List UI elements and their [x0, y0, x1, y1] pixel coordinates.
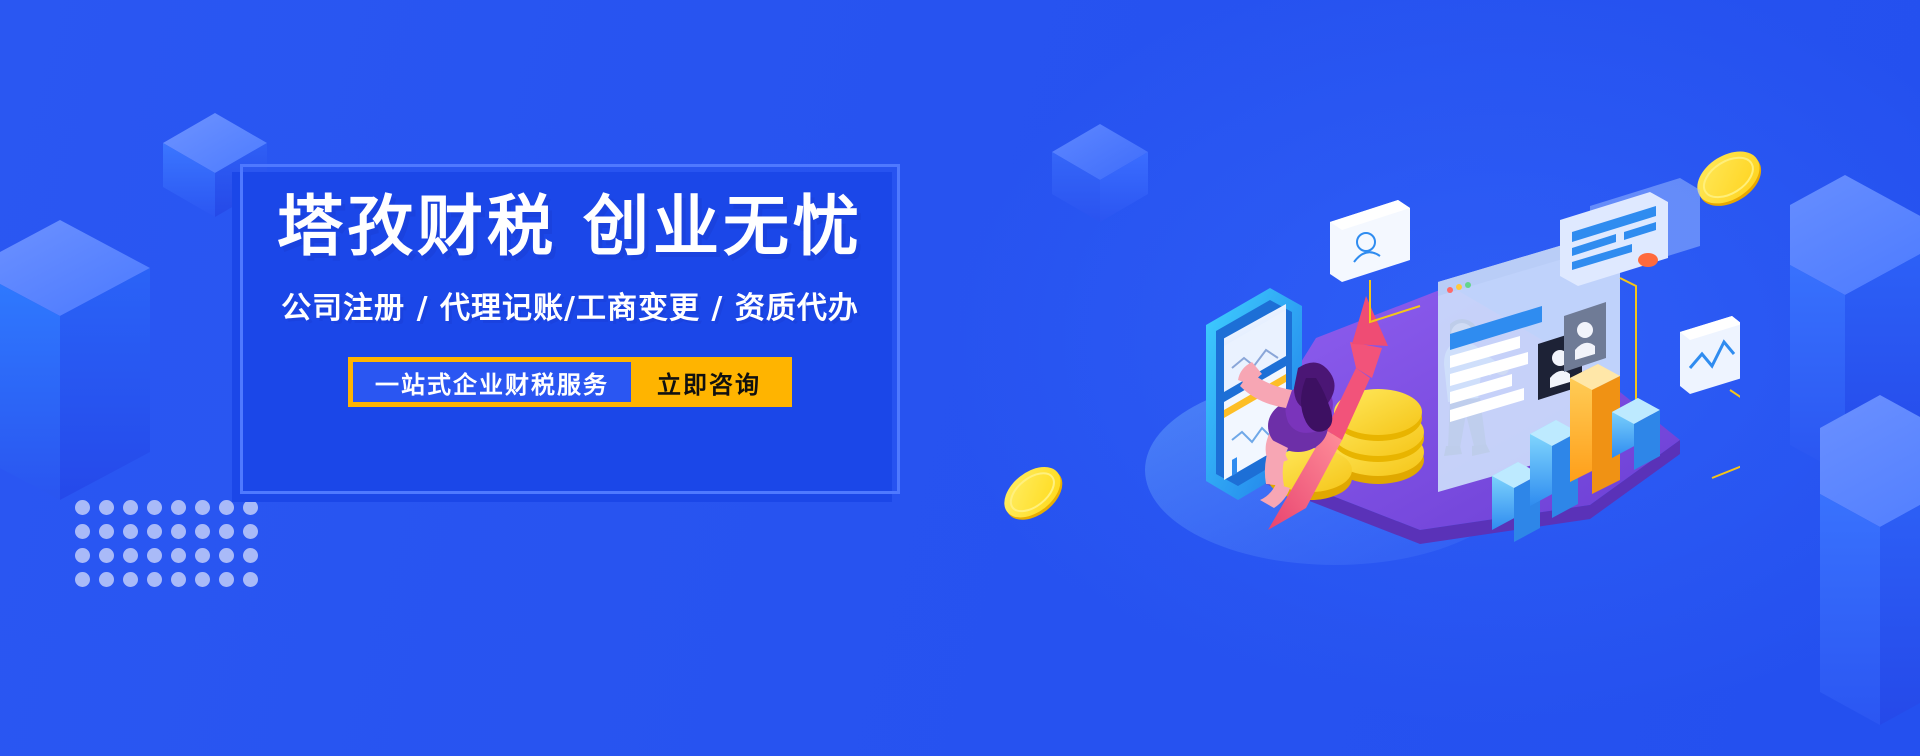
dot: [219, 572, 234, 587]
dot: [147, 572, 162, 587]
dot: [219, 524, 234, 539]
dot: [171, 572, 186, 587]
dot: [123, 548, 138, 563]
banner-subtitle: 公司注册 / 代理记账/工商变更 / 资质代办: [281, 283, 859, 327]
page-title: 塔孜财税创业无忧: [277, 192, 863, 261]
dot: [99, 524, 114, 539]
cta-group: 一站式企业财税服务 立即咨询: [348, 357, 792, 407]
decor-dot-grid: [75, 500, 267, 596]
dot: [75, 500, 90, 515]
headline-part-2: 创业无忧: [583, 188, 863, 265]
dot: [75, 572, 90, 587]
line-chart-card: [1680, 316, 1740, 394]
decor-block-left: [0, 220, 150, 520]
dot: [243, 572, 258, 587]
dot: [75, 524, 90, 539]
promo-banner: 塔孜财税创业无忧 公司注册 / 代理记账/工商变更 / 资质代办 一站式企业财税…: [0, 0, 1920, 756]
dot: [123, 572, 138, 587]
dot: [99, 548, 114, 563]
dot: [195, 524, 210, 539]
dot: [243, 500, 258, 515]
profile-card: [1330, 200, 1410, 282]
consult-now-button[interactable]: 立即咨询: [631, 362, 787, 402]
dot: [171, 524, 186, 539]
dot: [99, 500, 114, 515]
dot: [243, 548, 258, 563]
dot: [195, 500, 210, 515]
isometric-illustration: [1120, 110, 1740, 580]
dot: [147, 524, 162, 539]
dot: [147, 548, 162, 563]
dot: [219, 500, 234, 515]
dot: [171, 500, 186, 515]
dot: [219, 548, 234, 563]
gold-coin-icon-near-cta: [995, 455, 1071, 536]
banner-copy-panel: 塔孜财税创业无忧 公司注册 / 代理记账/工商变更 / 资质代办 一站式企业财税…: [240, 164, 900, 494]
dot: [147, 500, 162, 515]
dot: [123, 524, 138, 539]
dot: [75, 548, 90, 563]
service-tag-button[interactable]: 一站式企业财税服务: [353, 362, 631, 402]
credit-card: [1560, 178, 1700, 286]
decor-block-right-bottom: [1820, 395, 1920, 735]
dot: [195, 572, 210, 587]
dot: [171, 548, 186, 563]
dot: [195, 548, 210, 563]
dot: [99, 572, 114, 587]
dot: [123, 500, 138, 515]
headline-part-1: 塔孜财税: [277, 188, 557, 265]
dot: [243, 524, 258, 539]
